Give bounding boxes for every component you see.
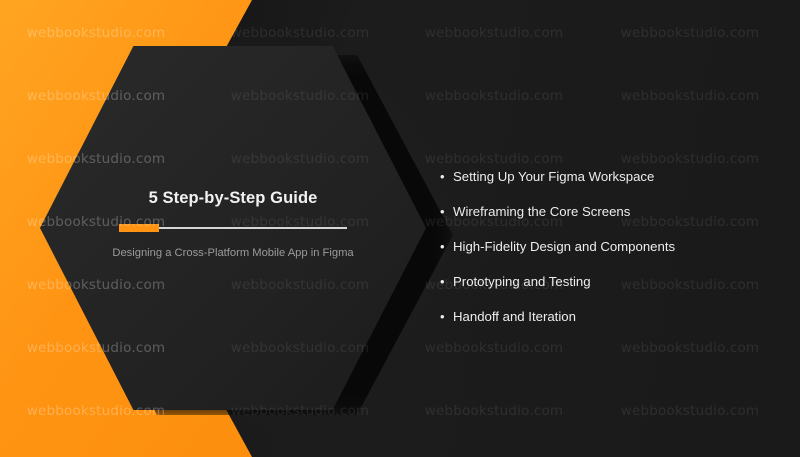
list-item-label: Wireframing the Core Screens — [453, 203, 630, 220]
list-item[interactable]: •Wireframing the Core Screens — [440, 203, 770, 220]
divider-accent — [119, 224, 159, 232]
hexagon-card-content: 5 Step-by-Step Guide Designing a Cross-P… — [40, 46, 426, 410]
list-item[interactable]: •Prototyping and Testing — [440, 273, 770, 290]
list-item[interactable]: •High-Fidelity Design and Components — [440, 238, 770, 255]
step-list: •Setting Up Your Figma Workspace•Wirefra… — [440, 168, 770, 325]
bullet-dot-icon: • — [440, 168, 453, 185]
list-item-label: Setting Up Your Figma Workspace — [453, 168, 654, 185]
page-title: 5 Step-by-Step Guide — [149, 189, 318, 208]
list-item[interactable]: •Setting Up Your Figma Workspace — [440, 168, 770, 185]
list-item-label: High-Fidelity Design and Components — [453, 238, 675, 255]
bullet-dot-icon: • — [440, 273, 453, 290]
list-item-label: Prototyping and Testing — [453, 273, 591, 290]
page-subtitle: Designing a Cross-Platform Mobile App in… — [112, 246, 353, 261]
list-item-label: Handoff and Iteration — [453, 308, 576, 325]
bullet-dot-icon: • — [440, 238, 453, 255]
title-divider — [119, 224, 347, 232]
slide-canvas: 5 Step-by-Step Guide Designing a Cross-P… — [0, 0, 800, 457]
list-item[interactable]: •Handoff and Iteration — [440, 308, 770, 325]
bullet-dot-icon: • — [440, 203, 453, 220]
bullet-dot-icon: • — [440, 308, 453, 325]
